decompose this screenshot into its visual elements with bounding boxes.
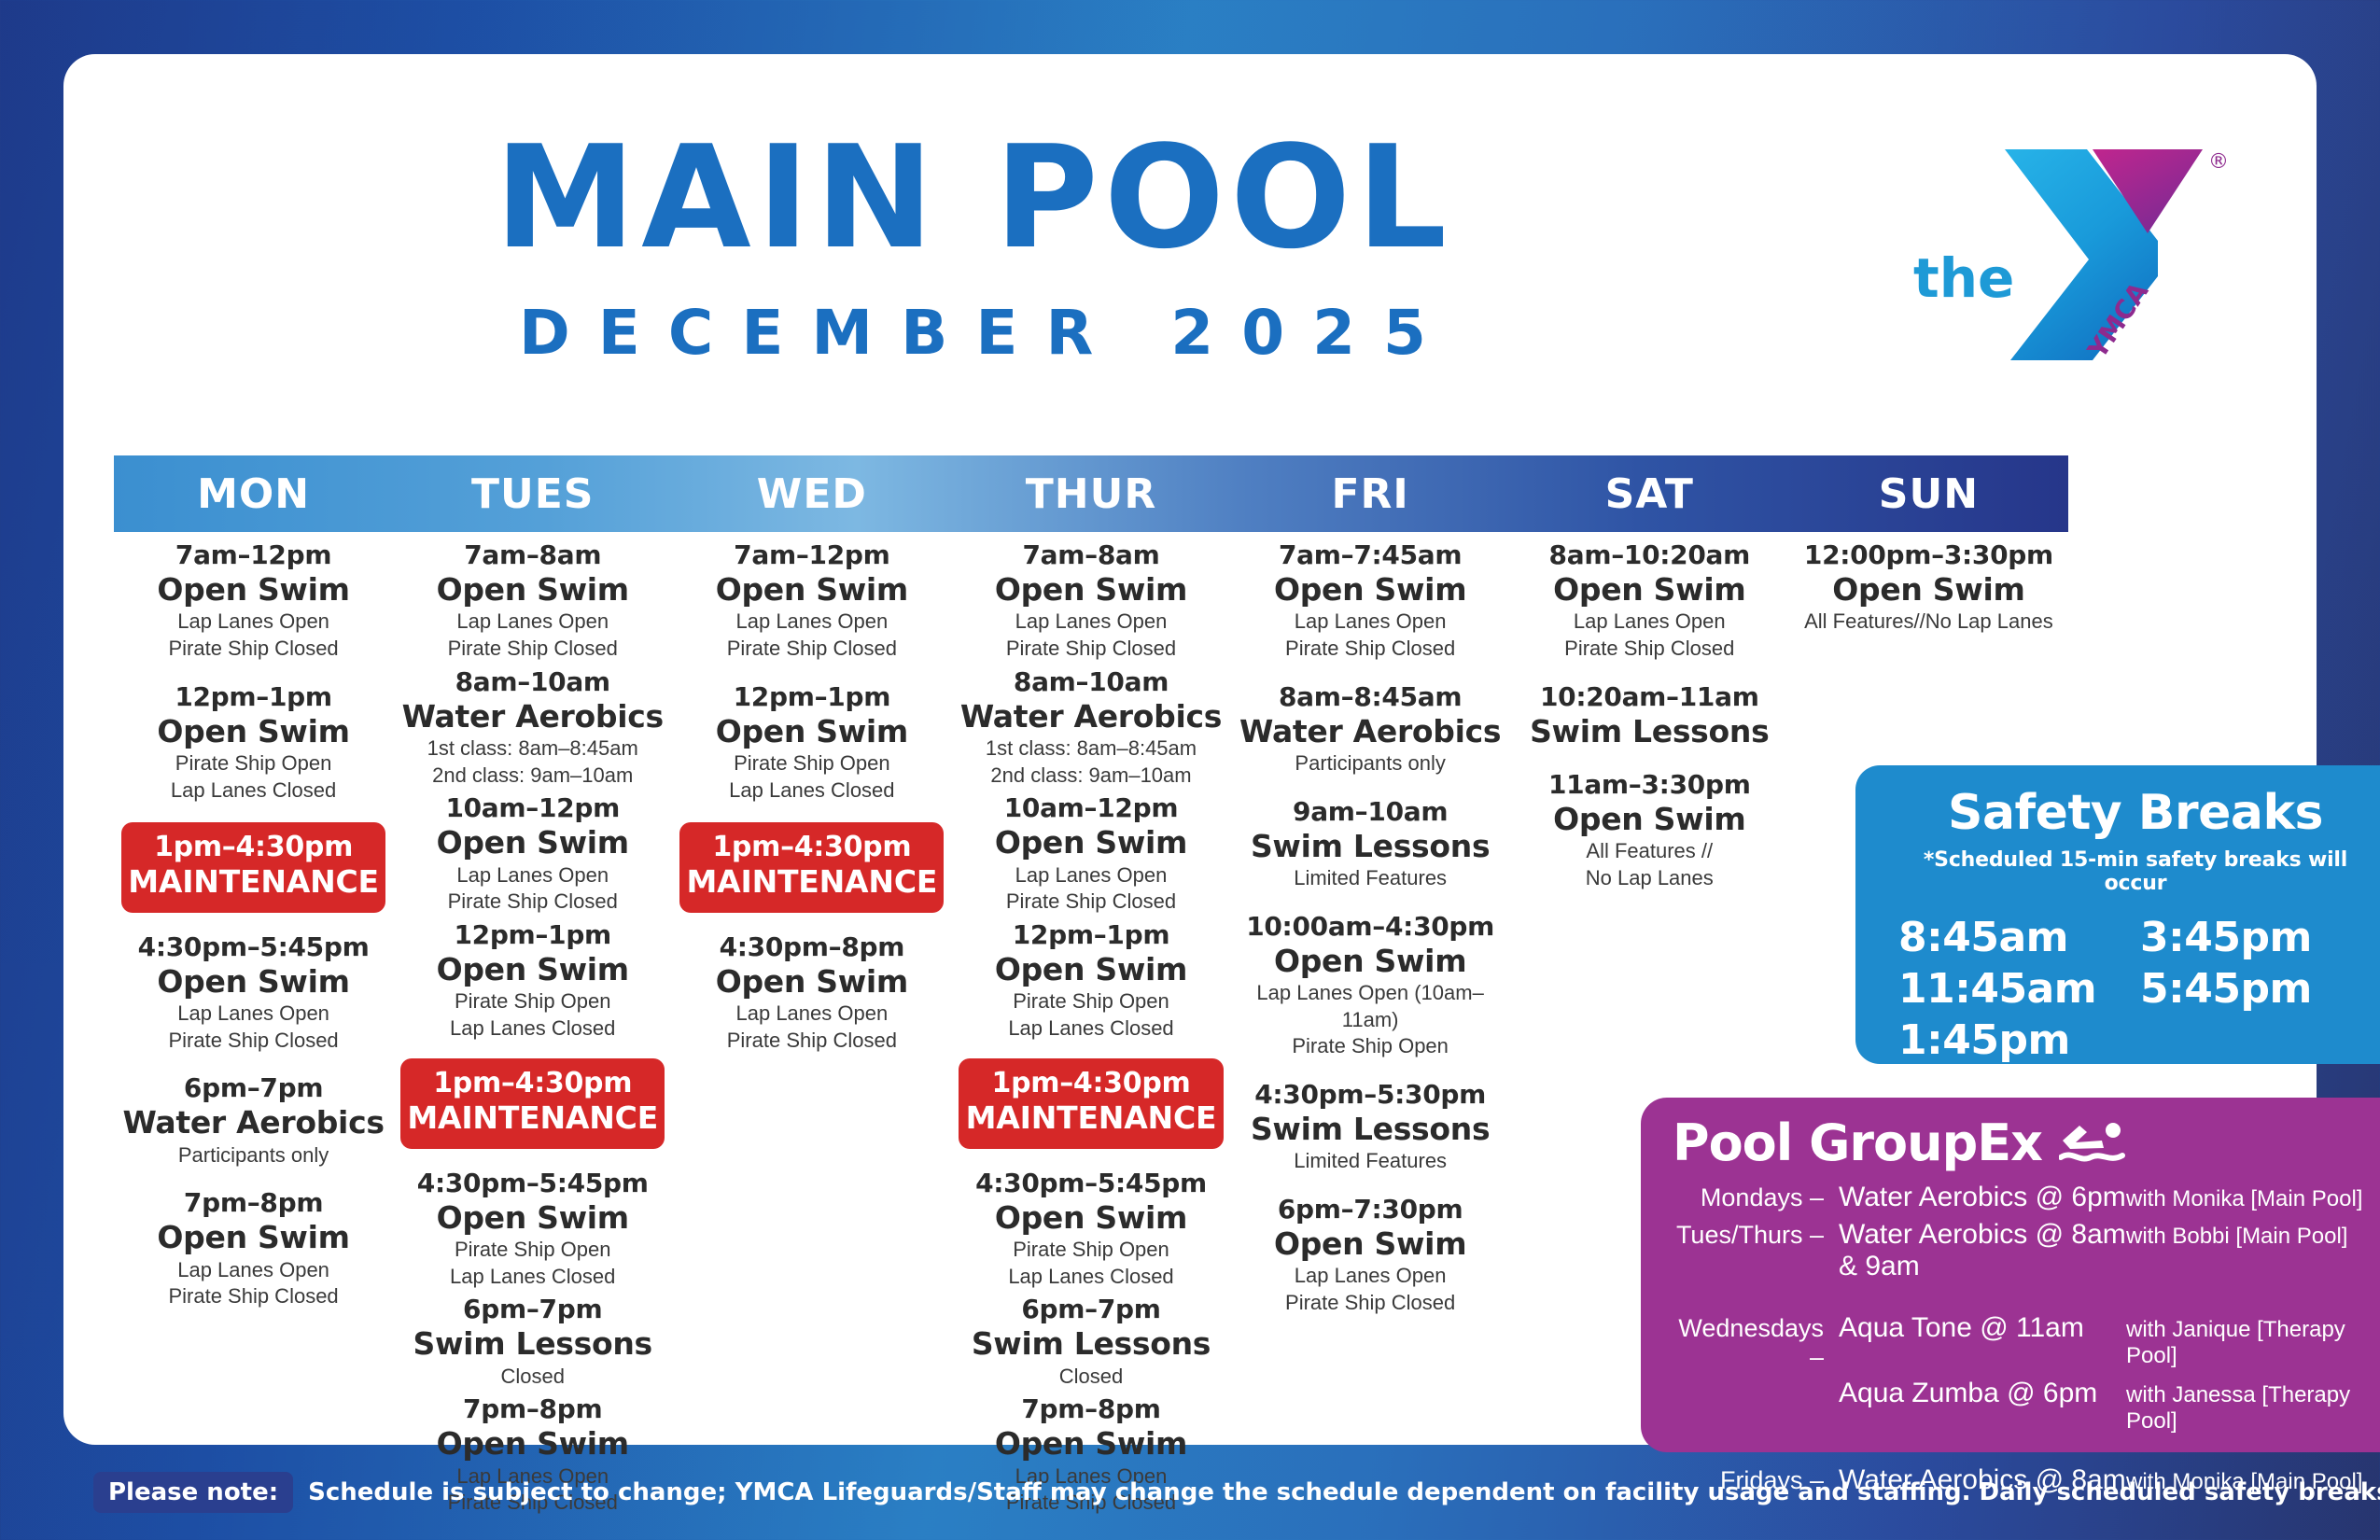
schedule-note: Lap Lanes Open (399, 609, 666, 636)
safety-breaks-right-column: 3:45pm 5:45pm (2140, 912, 2380, 1066)
schedule-activity: Open Swim (399, 1199, 666, 1237)
schedule-time: 10:20am–11am (1516, 681, 1784, 713)
schedule-time: 10am–12pm (399, 792, 666, 824)
maintenance-block: 1pm–4:30pmMAINTENANCE (679, 822, 944, 912)
schedule-note: Limited Features (1237, 1148, 1505, 1175)
schedule-block: 6pm–7pmWater AerobicsParticipants only (119, 1072, 387, 1169)
schedule-note: Lap Lanes Open (957, 862, 1225, 889)
schedule-block: 8am–8:45amWater AerobicsParticipants onl… (1237, 681, 1505, 777)
schedule-block: 8am–10:20amOpen SwimLap Lanes OpenPirate… (1516, 539, 1784, 663)
pool-groupex-title: Pool GroupEx (1673, 1118, 2042, 1169)
schedule-time: 7am–8am (399, 539, 666, 571)
schedule-note: 1st class: 8am–8:45am (957, 735, 1225, 763)
schedule-note: No Lap Lanes (1516, 865, 1784, 892)
schedule-note: Lap Lanes Open (957, 609, 1225, 636)
schedule-block: 12pm–1pmOpen SwimPirate Ship OpenLap Lan… (119, 681, 387, 805)
groupex-row: Aqua Zumba @ 6pmwith Janessa [Therapy Po… (1673, 1378, 2380, 1435)
schedule-activity: Open Swim (399, 571, 666, 609)
schedule-note: 2nd class: 9am–10am (957, 763, 1225, 790)
day-header-wed: WED (672, 455, 951, 532)
schedule-note: Pirate Ship Closed (957, 636, 1225, 663)
groupex-day: Mondays – (1673, 1183, 1839, 1212)
schedule-time: 9am–10am (1237, 796, 1505, 828)
schedule-time: 4:30pm–5:45pm (119, 931, 387, 963)
schedule-note: Pirate Ship Closed (678, 636, 945, 663)
schedule-activity: Open Swim (1237, 571, 1505, 609)
schedule-block: 6pm–7pmSwim LessonsClosed (957, 1294, 1225, 1390)
safety-break-time: 8:45am (1898, 912, 2140, 963)
safety-breaks-left-column: 8:45am 11:45am 1:45pm (1898, 912, 2140, 1066)
schedule-time: 7pm–8pm (399, 1393, 666, 1425)
groupex-day: Wednesdays – (1673, 1314, 1839, 1372)
safety-breaks-title: Safety Breaks (1889, 788, 2380, 839)
schedule-block: 12pm–1pmOpen SwimPirate Ship OpenLap Lan… (399, 919, 666, 1043)
maintenance-label: MAINTENANCE (406, 1100, 659, 1137)
schedule-activity: Open Swim (119, 713, 387, 750)
schedule-time: 7pm–8pm (957, 1393, 1225, 1425)
schedule-note: Pirate Ship Open (957, 1237, 1225, 1264)
maintenance-label: MAINTENANCE (964, 1100, 1217, 1137)
schedule-note: Pirate Ship Closed (399, 889, 666, 916)
groupex-row: Wednesdays –Aqua Tone @ 11amwith Janique… (1673, 1312, 2380, 1372)
groupex-class: Aqua Tone @ 11am (1839, 1312, 2126, 1344)
groupex-row-spacer (1673, 1288, 2380, 1312)
schedule-time: 4:30pm–5:45pm (957, 1168, 1225, 1199)
maintenance-time: 1pm–4:30pm (964, 1067, 1217, 1099)
maintenance-label: MAINTENANCE (685, 864, 938, 901)
schedule-time: 10:00am–4:30pm (1237, 911, 1505, 943)
schedule-time: 12pm–1pm (678, 681, 945, 713)
schedule-note: Lap Lanes Closed (399, 1015, 666, 1043)
schedule-time: 8am–10am (957, 666, 1225, 698)
day-header-tues: TUES (393, 455, 672, 532)
schedule-time: 7am–7:45am (1237, 539, 1505, 571)
schedule-time: 8am–10am (399, 666, 666, 698)
schedule-note: Pirate Ship Closed (1516, 636, 1784, 663)
schedule-note: Pirate Ship Closed (119, 636, 387, 663)
schedule-time: 12pm–1pm (119, 681, 387, 713)
schedule-note: Pirate Ship Closed (119, 1028, 387, 1055)
schedule-note: Pirate Ship Closed (399, 636, 666, 663)
schedule-activity: Open Swim (1237, 1225, 1505, 1263)
safety-break-time: 5:45pm (2140, 963, 2380, 1015)
day-header-bar: MON TUES WED THUR FRI SAT SUN (114, 455, 2068, 532)
schedule-time: 4:30pm–5:30pm (1237, 1079, 1505, 1111)
schedule-block: 6pm–7pmSwim LessonsClosed (399, 1294, 666, 1390)
svg-text:the: the (1913, 246, 2014, 310)
schedule-note: Lap Lanes Closed (119, 777, 387, 805)
schedule-note: Pirate Ship Closed (1237, 1290, 1505, 1317)
schedule-time: 12pm–1pm (399, 919, 666, 951)
schedule-block: 12pm–1pmOpen SwimPirate Ship OpenLap Lan… (957, 919, 1225, 1043)
schedule-note: 2nd class: 9am–10am (399, 763, 666, 790)
schedule-block: 7am–12pmOpen SwimLap Lanes OpenPirate Sh… (678, 539, 945, 663)
schedule-note: All Features//No Lap Lanes (1795, 609, 2063, 636)
schedule-note: Lap Lanes Open (678, 1001, 945, 1028)
safety-breaks-note: *Scheduled 15-min safety breaks will occ… (1889, 848, 2380, 895)
groupex-instructor: with Bobbi [Main Pool] (2126, 1224, 2380, 1250)
schedule-note: Limited Features (1237, 865, 1505, 892)
groupex-class: Aqua Zumba @ 6pm (1839, 1378, 2126, 1409)
schedule-time: 8am–10:20am (1516, 539, 1784, 571)
schedule-activity: Water Aerobics (119, 1104, 387, 1141)
schedule-block: 7am–8amOpen SwimLap Lanes OpenPirate Shi… (399, 539, 666, 663)
maintenance-block: 1pm–4:30pmMAINTENANCE (400, 1058, 665, 1148)
day-header-sun: SUN (1789, 455, 2068, 532)
schedule-note: Participants only (1237, 750, 1505, 777)
safety-breaks-panel: Safety Breaks *Scheduled 15-min safety b… (1855, 765, 2380, 1064)
schedule-block: 7am–12pmOpen SwimLap Lanes OpenPirate Sh… (119, 539, 387, 663)
schedule-activity: Water Aerobics (399, 698, 666, 735)
groupex-class: Water Aerobics @ 8am & 9am (1839, 1219, 2126, 1282)
schedule-activity: Open Swim (119, 1219, 387, 1256)
schedule-block: 6pm–7:30pmOpen SwimLap Lanes OpenPirate … (1237, 1194, 1505, 1317)
schedule-note: Lap Lanes Open (1516, 609, 1784, 636)
schedule-activity: Open Swim (1237, 943, 1505, 980)
schedule-note: Lap Lanes Closed (957, 1015, 1225, 1043)
schedule-activity: Open Swim (399, 824, 666, 861)
day-header-fri: FRI (1231, 455, 1510, 532)
safety-break-time: 1:45pm (1898, 1015, 2140, 1066)
schedule-activity: Open Swim (678, 963, 945, 1001)
schedule-activity: Swim Lessons (399, 1325, 666, 1363)
schedule-activity: Open Swim (957, 1199, 1225, 1237)
swimmer-icon (2059, 1120, 2132, 1167)
schedule-block: 10am–12pmOpen SwimLap Lanes OpenPirate S… (957, 792, 1225, 916)
schedule-block: 4:30pm–5:30pmSwim LessonsLimited Feature… (1237, 1079, 1505, 1175)
schedule-note: 1st class: 8am–8:45am (399, 735, 666, 763)
schedule-column-tues: 7am–8amOpen SwimLap Lanes OpenPirate Shi… (393, 539, 672, 1520)
schedule-block: 9am–10amSwim LessonsLimited Features (1237, 796, 1505, 892)
schedule-note: Pirate Ship Open (957, 988, 1225, 1015)
maintenance-block: 1pm–4:30pmMAINTENANCE (121, 822, 385, 912)
schedule-block: 4:30pm–5:45pmOpen SwimLap Lanes OpenPira… (119, 931, 387, 1055)
pool-groupex-header: Pool GroupEx (1673, 1118, 2380, 1169)
schedule-note: Lap Lanes Closed (678, 777, 945, 805)
schedule-note: Closed (957, 1364, 1225, 1391)
svg-text:®: ® (2208, 150, 2229, 174)
schedule-activity: Water Aerobics (957, 698, 1225, 735)
schedule-note: Lap Lanes Closed (399, 1264, 666, 1291)
day-header-mon: MON (114, 455, 393, 532)
footer-note: Please note: Schedule is subject to chan… (0, 1445, 2380, 1540)
day-header-thur: THUR (951, 455, 1230, 532)
safety-break-time: 11:45am (1898, 963, 2140, 1015)
schedule-time: 6pm–7pm (119, 1072, 387, 1104)
schedule-note: Lap Lanes Open (119, 609, 387, 636)
schedule-note: Pirate Ship Open (399, 988, 666, 1015)
schedule-note: Pirate Ship Closed (119, 1283, 387, 1310)
schedule-note: Lap Lanes Open (119, 1257, 387, 1284)
groupex-row: Mondays –Water Aerobics @ 6pmwith Monika… (1673, 1182, 2380, 1213)
groupex-instructor: with Janique [Therapy Pool] (2126, 1317, 2380, 1369)
day-header-sat: SAT (1510, 455, 1789, 532)
schedule-activity: Open Swim (678, 571, 945, 609)
schedule-note: Pirate Ship Open (678, 750, 945, 777)
schedule-note: Pirate Ship Open (119, 750, 387, 777)
schedule-time: 4:30pm–8pm (678, 931, 945, 963)
schedule-time: 7am–12pm (119, 539, 387, 571)
pool-groupex-panel: Pool GroupEx Mondays –Water Aerobics @ 6… (1641, 1098, 2380, 1452)
schedule-block: 8am–10amWater Aerobics1st class: 8am–8:4… (399, 666, 666, 790)
schedule-activity: Open Swim (1516, 801, 1784, 838)
please-note-badge: Please note: (93, 1472, 293, 1513)
schedule-activity: Swim Lessons (1237, 828, 1505, 865)
schedule-note: Lap Lanes Open (1237, 1263, 1505, 1290)
schedule-activity: Open Swim (1516, 571, 1784, 609)
schedule-card: MAIN POOL DECEMBER 2025 (63, 54, 2317, 1445)
page-title: MAIN POOL (63, 127, 1883, 269)
schedule-activity: Open Swim (1795, 571, 2063, 609)
schedule-note: Pirate Ship Closed (1237, 636, 1505, 663)
schedule-note: Lap Lanes Open (1237, 609, 1505, 636)
title-block: MAIN POOL DECEMBER 2025 (63, 127, 1883, 369)
schedule-time: 7am–8am (957, 539, 1225, 571)
footer-note-text: Schedule is subject to change; YMCA Life… (308, 1478, 2380, 1506)
schedule-note: Pirate Ship Open (1237, 1033, 1505, 1060)
schedule-activity: Open Swim (957, 571, 1225, 609)
groupex-day: Tues/Thurs – (1673, 1221, 1839, 1250)
schedule-time: 11am–3:30pm (1516, 769, 1784, 801)
schedule-time: 6pm–7pm (399, 1294, 666, 1325)
page-subtitle: DECEMBER 2025 (63, 297, 1883, 369)
schedule-activity: Water Aerobics (1237, 713, 1505, 750)
schedule-block: 4:30pm–5:45pmOpen SwimPirate Ship OpenLa… (957, 1168, 1225, 1291)
schedule-time: 6pm–7pm (957, 1294, 1225, 1325)
schedule-block: 4:30pm–5:45pmOpen SwimPirate Ship OpenLa… (399, 1168, 666, 1291)
schedule-note: Pirate Ship Closed (957, 889, 1225, 916)
schedule-activity: Open Swim (399, 951, 666, 988)
schedule-note: Participants only (119, 1142, 387, 1169)
schedule-activity: Open Swim (119, 963, 387, 1001)
schedule-activity: Swim Lessons (957, 1325, 1225, 1363)
schedule-column-mon: 7am–12pmOpen SwimLap Lanes OpenPirate Sh… (114, 539, 393, 1520)
schedule-time: 4:30pm–5:45pm (399, 1168, 666, 1199)
schedule-block: 10am–12pmOpen SwimLap Lanes OpenPirate S… (399, 792, 666, 916)
groupex-class: Water Aerobics @ 6pm (1839, 1182, 2126, 1213)
schedule-block: 10:20am–11amSwim Lessons (1516, 681, 1784, 750)
schedule-column-thur: 7am–8amOpen SwimLap Lanes OpenPirate Shi… (951, 539, 1230, 1520)
schedule-note: Pirate Ship Closed (678, 1028, 945, 1055)
schedule-block: 12pm–1pmOpen SwimPirate Ship OpenLap Lan… (678, 681, 945, 805)
schedule-note: Lap Lanes Open (678, 609, 945, 636)
schedule-time: 12pm–1pm (957, 919, 1225, 951)
header: MAIN POOL DECEMBER 2025 (63, 54, 2317, 427)
schedule-note: Lap Lanes Closed (957, 1264, 1225, 1291)
schedule-note: Pirate Ship Open (399, 1237, 666, 1264)
schedule-activity: Open Swim (119, 571, 387, 609)
schedule-block: 12:00pm–3:30pmOpen SwimAll Features//No … (1795, 539, 2063, 636)
schedule-activity: Swim Lessons (1516, 713, 1784, 750)
groupex-row: Tues/Thurs –Water Aerobics @ 8am & 9amwi… (1673, 1219, 2380, 1282)
schedule-activity: Open Swim (678, 713, 945, 750)
schedule-note: Lap Lanes Open (399, 862, 666, 889)
schedule-note: Lap Lanes Open (119, 1001, 387, 1028)
schedule-block: 11am–3:30pmOpen SwimAll Features //No La… (1516, 769, 1784, 892)
schedule-block: 7pm–8pmOpen SwimLap Lanes OpenPirate Shi… (119, 1187, 387, 1310)
schedule-block: 8am–10amWater Aerobics1st class: 8am–8:4… (957, 666, 1225, 790)
maintenance-time: 1pm–4:30pm (685, 831, 938, 863)
schedule-time: 7pm–8pm (119, 1187, 387, 1219)
schedule-block: 7am–7:45amOpen SwimLap Lanes OpenPirate … (1237, 539, 1505, 663)
ymca-logo: the YMCA ® (1895, 119, 2249, 390)
maintenance-block: 1pm–4:30pmMAINTENANCE (959, 1058, 1223, 1148)
schedule-activity: Open Swim (957, 951, 1225, 988)
schedule-note: Closed (399, 1364, 666, 1391)
groupex-instructor: with Monika [Main Pool] (2126, 1186, 2380, 1212)
schedule-note: Lap Lanes Open (10am–11am) (1237, 980, 1505, 1033)
schedule-time: 6pm–7:30pm (1237, 1194, 1505, 1225)
schedule-time: 12:00pm–3:30pm (1795, 539, 2063, 571)
schedule-time: 7am–12pm (678, 539, 945, 571)
schedule-block: 7am–8amOpen SwimLap Lanes OpenPirate Shi… (957, 539, 1225, 663)
maintenance-time: 1pm–4:30pm (406, 1067, 659, 1099)
schedule-time: 10am–12pm (957, 792, 1225, 824)
schedule-time: 8am–8:45am (1237, 681, 1505, 713)
schedule-activity: Open Swim (957, 824, 1225, 861)
safety-break-time: 3:45pm (2140, 912, 2380, 963)
maintenance-label: MAINTENANCE (127, 864, 380, 901)
maintenance-time: 1pm–4:30pm (127, 831, 380, 863)
schedule-note: All Features // (1516, 838, 1784, 865)
schedule-column-fri: 7am–7:45amOpen SwimLap Lanes OpenPirate … (1231, 539, 1510, 1520)
schedule-block: 10:00am–4:30pmOpen SwimLap Lanes Open (1… (1237, 911, 1505, 1060)
schedule-block: 4:30pm–8pmOpen SwimLap Lanes OpenPirate … (678, 931, 945, 1055)
groupex-instructor: with Janessa [Therapy Pool] (2126, 1382, 2380, 1435)
schedule-column-wed: 7am–12pmOpen SwimLap Lanes OpenPirate Sh… (672, 539, 951, 1520)
schedule-activity: Swim Lessons (1237, 1111, 1505, 1148)
